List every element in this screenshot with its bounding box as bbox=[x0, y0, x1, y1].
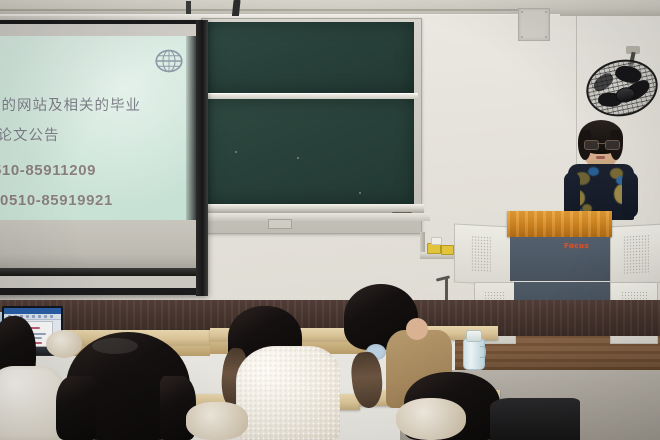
slide-line-1: 院的网站及相关的毕业 bbox=[0, 94, 141, 115]
fur-bag bbox=[186, 402, 248, 440]
bottle-cap bbox=[466, 330, 482, 342]
presenter-glasses bbox=[584, 140, 618, 148]
blackboard-panel-lower bbox=[207, 99, 414, 204]
university-globe-emblem bbox=[154, 46, 184, 76]
slide-phone-1: 0510-85911209 bbox=[0, 162, 96, 179]
classroom-photo: 院的网站及相关的毕业 业论文公告 0510-85911209 ： 0510-85… bbox=[0, 0, 660, 440]
student-neck bbox=[406, 318, 428, 340]
projected-slide: 院的网站及相关的毕业 业论文公告 0510-85911209 ： 0510-85… bbox=[0, 36, 196, 220]
presenter bbox=[560, 120, 640, 220]
slide-line-2: 业论文公告 bbox=[0, 124, 60, 145]
podium-speaker-grille bbox=[610, 224, 660, 286]
side-ledge-bracket bbox=[420, 232, 425, 254]
podium-front-panel bbox=[510, 237, 610, 281]
ceiling-wall-fan bbox=[586, 54, 660, 118]
screen-right-edge bbox=[196, 20, 208, 296]
podium-brand-label: Focus bbox=[564, 242, 589, 250]
slide-phone-2: 0510-85919921 bbox=[0, 192, 113, 209]
student-dark-coat bbox=[490, 398, 580, 440]
thermos-bottle[interactable] bbox=[463, 330, 483, 368]
podium-speaker-grille bbox=[454, 223, 512, 285]
rail-bracket bbox=[186, 1, 191, 14]
student-center-hair-left bbox=[56, 376, 96, 440]
bottle-strap bbox=[480, 346, 486, 358]
slide-phone-prefix-2: ： bbox=[0, 192, 2, 213]
ceiling-seam bbox=[0, 9, 520, 11]
hair-highlight bbox=[92, 338, 138, 354]
fur-collar bbox=[396, 398, 466, 440]
wall-access-panel bbox=[518, 8, 550, 41]
student-left-jacket bbox=[0, 366, 64, 440]
screen-bottom-batten bbox=[0, 268, 208, 276]
student-cream-sweater bbox=[236, 346, 340, 440]
fan-cage bbox=[581, 53, 660, 123]
blackboard-panel-upper bbox=[207, 22, 414, 93]
blackboard-lower-ledge bbox=[190, 213, 430, 221]
podium-desktop bbox=[507, 211, 612, 237]
presenter-mouth bbox=[596, 156, 605, 159]
chalk-box bbox=[431, 237, 442, 245]
screen-blank-area bbox=[0, 220, 196, 268]
blackboard-clip bbox=[268, 219, 292, 229]
